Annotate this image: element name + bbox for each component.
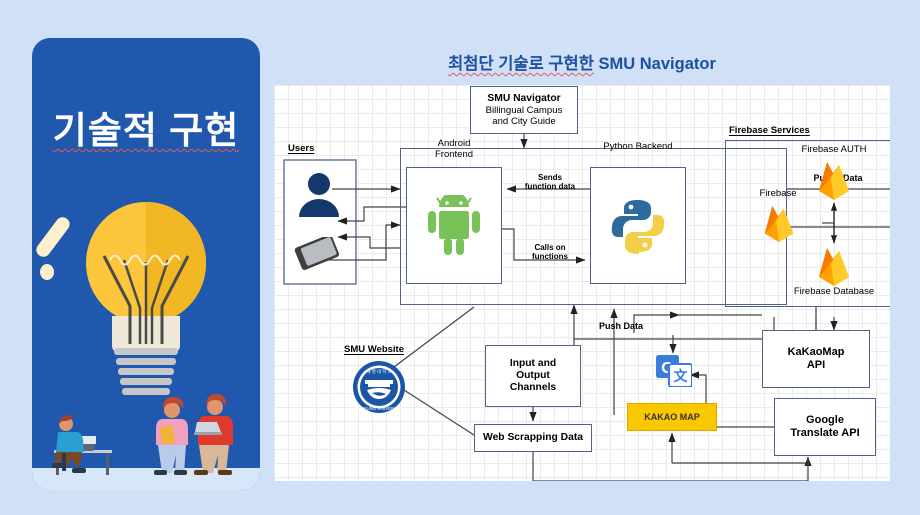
diagram-title-korean: 최첨단 기술로 구현한 — [448, 55, 594, 73]
io-line-1: Input and — [510, 358, 556, 370]
smu-website-label: SMU Website — [344, 344, 404, 355]
users-group-label: Users — [288, 143, 314, 154]
architecture-diagram: Users Android Frontend — [274, 85, 890, 481]
smu-navigator-sub-1: Billingual Campus — [486, 105, 563, 116]
svg-text:文: 文 — [674, 368, 689, 384]
bulb-filament-icon — [100, 254, 192, 344]
python-backend-label: Python Backend — [584, 142, 692, 153]
bulb-glare-large — [34, 214, 73, 259]
person-with-laptop — [194, 394, 233, 475]
web-scrapping-data-box: Web Scrapping Data — [474, 424, 592, 452]
lightbulb-illustration — [32, 198, 260, 490]
google-translate-api-box: Google Translate API — [774, 398, 876, 456]
kakaomap-api-line-2: API — [807, 359, 825, 372]
people-illustration — [32, 390, 260, 482]
diagram-title-english: SMU Navigator — [599, 55, 716, 73]
svg-text:세 명 대 학 교: 세 명 대 학 교 — [366, 368, 391, 375]
android-robot-icon — [426, 195, 482, 257]
smu-navigator-box: SMU Navigator Billingual Campus and City… — [470, 86, 578, 134]
python-logo-icon — [609, 197, 667, 255]
kakaomap-api-line-1: KaKaoMap — [788, 346, 845, 359]
firebase-flame-icon — [814, 159, 854, 201]
card-title: 기술적 구현 — [32, 100, 260, 154]
bulb-glare-small — [40, 264, 54, 280]
firebase-flame-icon — [814, 245, 854, 287]
sends-function-data-label: Sends function data — [514, 173, 586, 191]
gt-api-line-1: Google — [806, 414, 844, 427]
technical-implementation-card: 기술적 구현 — [32, 38, 260, 490]
user-person-icon — [296, 171, 342, 217]
bulb-screw-base — [114, 348, 178, 398]
semyung-university-seal-icon: 세 명 대 학 교 SEMYUNG UNIVERSITY — [352, 360, 406, 414]
firebase-auth-database-connector — [822, 197, 844, 249]
person-at-desk — [52, 415, 112, 475]
google-translate-icon: G 文 — [656, 355, 692, 387]
io-line-3: Channels — [510, 382, 556, 394]
smartphone-icon — [292, 237, 344, 273]
python-backend-box — [590, 167, 686, 284]
gt-api-line-2: Translate API — [790, 427, 859, 440]
kakaomap-api-box: KaKaoMap API — [762, 330, 870, 388]
kakao-map-box: KAKAO MAP — [627, 403, 717, 431]
smu-navigator-title: SMU Navigator — [487, 93, 560, 105]
person-holding-folder — [154, 397, 188, 475]
input-output-channels-box: Input and Output Channels — [485, 345, 581, 407]
firebase-services-group-box — [725, 140, 890, 307]
android-frontend-box — [406, 167, 502, 284]
firebase-database-label: Firebase Database — [770, 287, 890, 298]
calls-on-functions-label: Calls on functions — [517, 243, 583, 261]
diagram-title: 최첨단 기술로 구현한 SMU Navigator — [274, 50, 890, 74]
firebase-auth-label: Firebase AUTH — [774, 145, 890, 156]
firebase-flame-icon — [760, 203, 798, 243]
android-frontend-label: Android Frontend — [406, 139, 502, 161]
svg-text:SEMYUNG UNIVERSITY: SEMYUNG UNIVERSITY — [354, 406, 404, 411]
firebase-label: Firebase — [740, 189, 816, 200]
smu-navigator-sub-2: and City Guide — [492, 116, 555, 127]
io-line-2: Output — [516, 370, 550, 382]
push-data-label: Push Data — [579, 321, 663, 331]
firebase-services-label: Firebase Services — [729, 125, 810, 136]
